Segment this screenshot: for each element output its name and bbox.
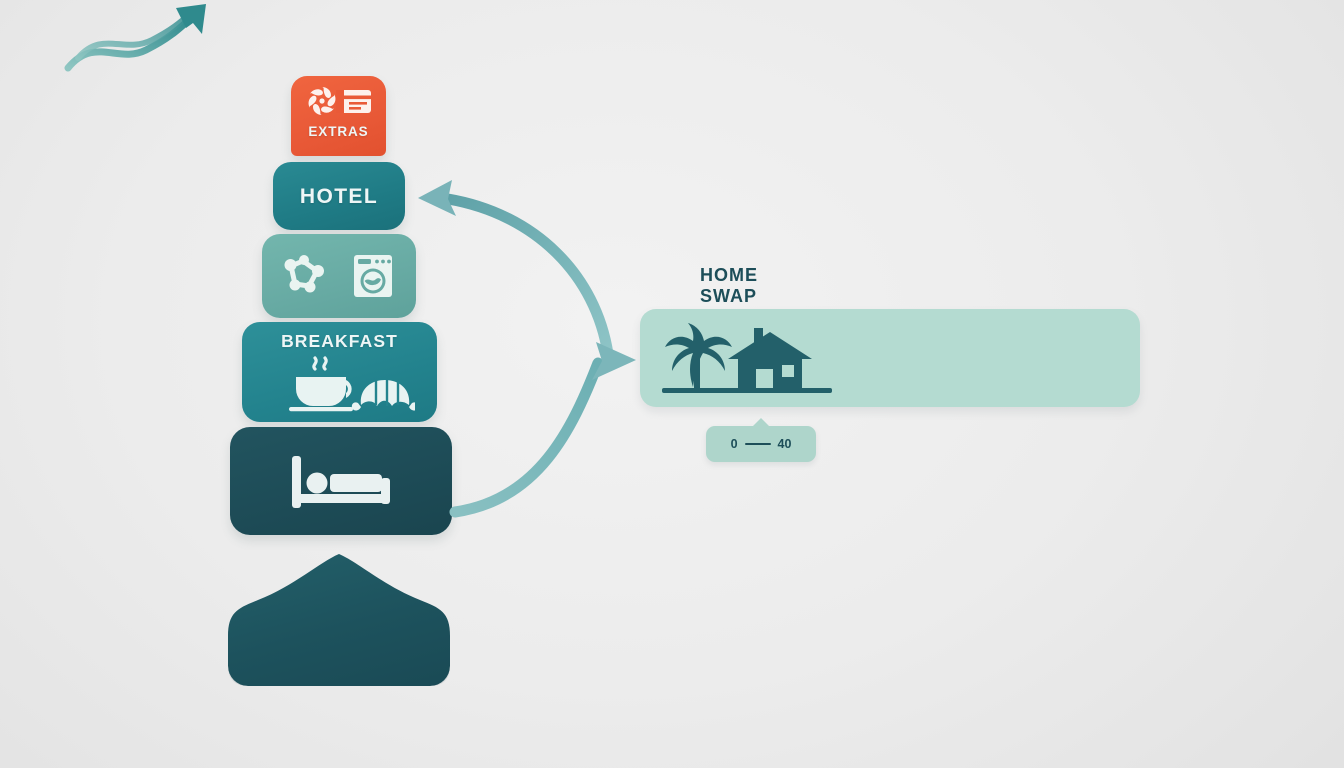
home-swap-panel[interactable] xyxy=(640,309,1140,407)
stack-card-breakfast[interactable]: BREAKFAST xyxy=(242,322,437,422)
stack-card-breakfast-label: BREAKFAST xyxy=(281,333,398,351)
home-swap-title: HOME SWAP xyxy=(700,265,758,307)
infographic-canvas: EXTRAS HOTEL xyxy=(0,0,1344,768)
stack-card-extras[interactable]: EXTRAS xyxy=(291,76,386,156)
coffee-cup-icon xyxy=(289,377,353,411)
stack-card-bed[interactable] xyxy=(230,427,452,535)
ground-line-icon xyxy=(662,388,832,393)
total-cost-banner[interactable] xyxy=(228,552,450,686)
home-swap-illustration xyxy=(662,321,832,395)
range-max: 40 xyxy=(778,437,792,451)
fitness-icon xyxy=(279,250,331,302)
growth-arrow-icon xyxy=(60,2,240,82)
connector-to-hotel xyxy=(418,180,608,354)
extras-icons xyxy=(305,83,373,119)
steam-icon xyxy=(313,358,325,369)
palm-tree-icon xyxy=(665,323,732,391)
pinwheel-icon xyxy=(305,86,338,116)
stack-card-amenities[interactable] xyxy=(262,234,416,318)
washing-machine-icon xyxy=(347,250,399,302)
range-min: 0 xyxy=(731,437,738,451)
bed-icon xyxy=(286,450,396,512)
range-separator-icon xyxy=(745,443,771,445)
range-badge[interactable]: 0 40 xyxy=(706,426,816,462)
stack-card-extras-label: EXTRAS xyxy=(308,125,368,139)
croissant-icon xyxy=(351,380,414,411)
stack-card-hotel-label: HOTEL xyxy=(300,186,378,207)
house-icon xyxy=(728,328,812,389)
breakfast-icons xyxy=(265,353,415,413)
stack-card-hotel[interactable]: HOTEL xyxy=(273,162,405,230)
connector-to-home-swap xyxy=(455,342,636,512)
payment-card-icon xyxy=(336,90,371,113)
